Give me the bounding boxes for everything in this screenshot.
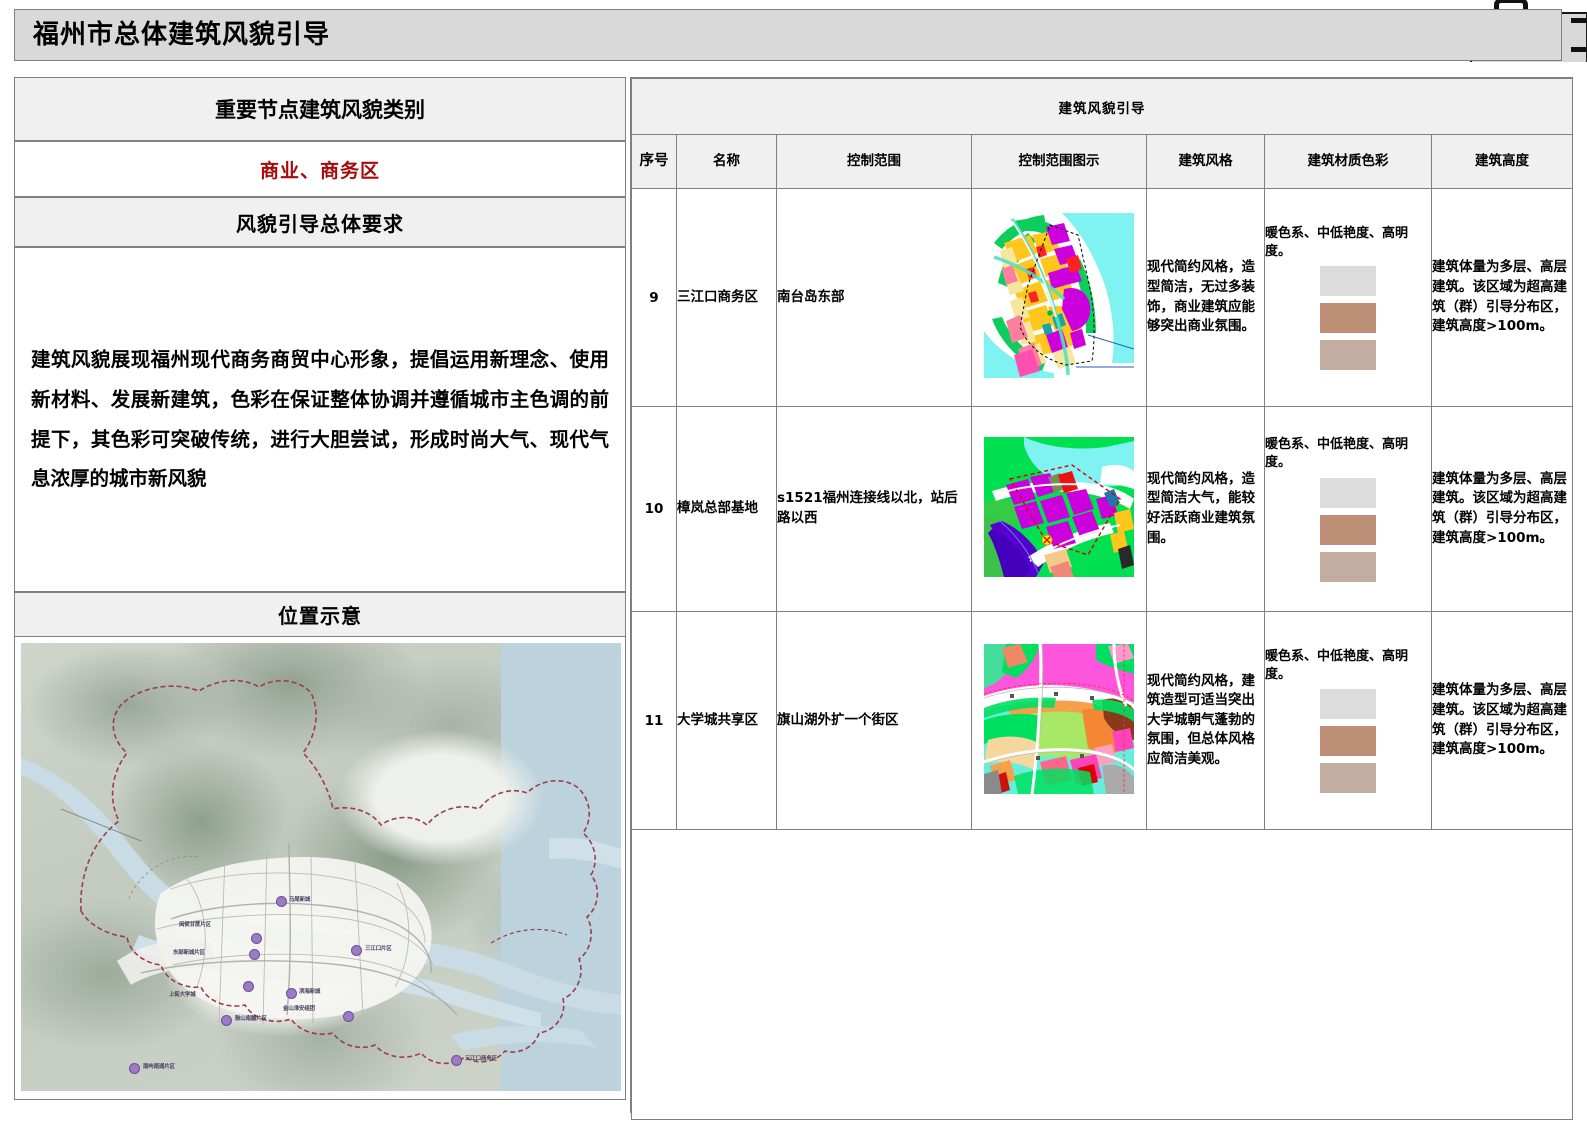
overall-requirement-header: 风貌引导总体要求 bbox=[14, 197, 626, 247]
guide-table: 建筑风貌引导 序号 名称 控制范围 控制范围图示 建筑风格 建筑材质色彩 建筑高… bbox=[631, 78, 1573, 1120]
map-node-label: 滨海新城 bbox=[299, 987, 320, 995]
map-node-label: 金山淮安组团 bbox=[283, 1004, 315, 1012]
column-header-height: 建筑高度 bbox=[1432, 135, 1573, 189]
material-swatch bbox=[1320, 340, 1376, 370]
category-label: 商业、商务区 bbox=[260, 156, 380, 183]
material-swatch bbox=[1320, 689, 1376, 719]
overall-requirement-text: 建筑风貌展现福州现代商务商贸中心形象，提倡运用新理念、使用新材料、发展新建筑，色… bbox=[31, 340, 609, 500]
material-swatch bbox=[1320, 303, 1376, 333]
material-swatch bbox=[1320, 266, 1376, 296]
left-section-title-text: 重要节点建筑风貌类别 bbox=[215, 94, 425, 124]
table-row: 10 樟岚总部基地 s1521福州连接线以北，站后路以西 bbox=[632, 407, 1573, 612]
material-swatch bbox=[1320, 763, 1376, 793]
material-swatch bbox=[1320, 515, 1376, 545]
page-title: 福州市总体建筑风貌引导 bbox=[15, 22, 330, 48]
table-empty-area bbox=[632, 830, 1573, 1120]
column-header-scope-map: 控制范围图示 bbox=[972, 135, 1147, 189]
row-style: 现代简约风格，建筑造型可适当突出大学城朝气蓬勃的氛围，但总体风格应简洁美观。 bbox=[1147, 612, 1265, 830]
location-header: 位置示意 bbox=[14, 592, 626, 637]
page-title-bar: 福州市总体建筑风貌引导 bbox=[14, 9, 1562, 61]
material-swatch bbox=[1320, 552, 1376, 582]
row-name: 樟岚总部基地 bbox=[677, 407, 777, 612]
map-node-label: 三江口商务区 bbox=[465, 1054, 497, 1062]
map-node-label: 东部新城片区 bbox=[173, 948, 205, 956]
row-name: 大学城共享区 bbox=[677, 612, 777, 830]
row-scope-map-cell bbox=[972, 407, 1147, 612]
material-swatch-group bbox=[1265, 478, 1431, 582]
row-material-note: 暖色系、中低艳度、高明度。 bbox=[1265, 436, 1431, 471]
location-map: 马尾新城 闽侯甘蔗片区 东部新城片区 三江口片区 上街大学城 滨海新城 金山淮安… bbox=[21, 643, 621, 1091]
row-material-note: 暖色系、中低艳度、高明度。 bbox=[1265, 225, 1431, 260]
column-header-material: 建筑材质色彩 bbox=[1265, 135, 1432, 189]
left-panel: 重要节点建筑风貌类别 商业、商务区 风貌引导总体要求 建筑风貌展现福州现代商务商… bbox=[14, 77, 626, 1113]
map-node-marker bbox=[249, 949, 260, 960]
row-material-cell: 暖色系、中低艳度、高明度。 bbox=[1265, 189, 1432, 407]
map-node-label: 马尾新城 bbox=[289, 895, 310, 903]
map-node-marker bbox=[221, 1015, 232, 1026]
row-scope: 旗山湖外扩一个街区 bbox=[777, 612, 972, 830]
category-cell: 商业、商务区 bbox=[14, 141, 626, 197]
guide-table-header-row: 序号 名称 控制范围 控制范围图示 建筑风格 建筑材质色彩 建筑高度 bbox=[632, 135, 1573, 189]
map-node-marker bbox=[276, 896, 287, 907]
guide-table-title-row: 建筑风貌引导 bbox=[632, 79, 1573, 135]
row-no: 10 bbox=[632, 407, 677, 612]
row-height: 建筑体量为多层、高层建筑。该区域为超高建筑（群）引导分布区，建筑高度>100m。 bbox=[1432, 189, 1573, 407]
map-node-marker bbox=[129, 1063, 140, 1074]
map-node-marker bbox=[286, 988, 297, 999]
row-material-cell: 暖色系、中低艳度、高明度。 bbox=[1265, 612, 1432, 830]
map-node-label: 鼓山南麓片区 bbox=[235, 1014, 267, 1022]
row-no: 9 bbox=[632, 189, 677, 407]
zoning-thumbnail-sanjiangkou bbox=[984, 213, 1134, 378]
zoning-thumbnail-zhanglan bbox=[984, 437, 1134, 577]
row-name: 三江口商务区 bbox=[677, 189, 777, 407]
overall-requirement-body: 建筑风貌展现福州现代商务商贸中心形象，提倡运用新理念、使用新材料、发展新建筑，色… bbox=[14, 247, 626, 592]
guide-table-container: 建筑风貌引导 序号 名称 控制范围 控制范围图示 建筑风格 建筑材质色彩 建筑高… bbox=[630, 77, 1573, 1113]
zoning-thumbnail-daxuecheng bbox=[984, 644, 1134, 794]
map-node-label: 闽侯甘蔗片区 bbox=[179, 920, 211, 928]
row-no: 11 bbox=[632, 612, 677, 830]
row-style: 现代简约风格，造型简洁，无过多装饰，商业建筑应能够突出商业氛围。 bbox=[1147, 189, 1265, 407]
material-swatch bbox=[1320, 478, 1376, 508]
left-section-title: 重要节点建筑风貌类别 bbox=[14, 77, 626, 141]
map-node-marker bbox=[243, 981, 254, 992]
map-node-label: 三江口片区 bbox=[365, 944, 392, 952]
column-header-name: 名称 bbox=[677, 135, 777, 189]
table-row: 11 大学城共享区 旗山湖外扩一个街区 bbox=[632, 612, 1573, 830]
row-scope-map-cell bbox=[972, 612, 1147, 830]
overall-requirement-title: 风貌引导总体要求 bbox=[236, 208, 404, 237]
map-node-label: 上街大学城 bbox=[169, 990, 196, 998]
row-height: 建筑体量为多层、高层建筑。该区域为超高建筑（群）引导分布区，建筑高度>100m。 bbox=[1432, 612, 1573, 830]
location-title: 位置示意 bbox=[278, 600, 362, 629]
map-node-marker bbox=[343, 1011, 354, 1022]
row-style: 现代简约风格，造型简洁大气，能较好活跃商业建筑氛围。 bbox=[1147, 407, 1265, 612]
map-node-marker bbox=[351, 945, 362, 956]
material-swatch-group bbox=[1265, 266, 1431, 370]
map-node-marker bbox=[451, 1055, 462, 1066]
map-node-label: 南屿南通片区 bbox=[143, 1062, 175, 1070]
material-swatch-group bbox=[1265, 689, 1431, 793]
column-header-style: 建筑风格 bbox=[1147, 135, 1265, 189]
table-empty-cell bbox=[632, 830, 1573, 1120]
slide-page: 福州市总体建筑风貌引导 重要节点建筑风貌类别 商业、商务区 风貌引导总体要求 建… bbox=[0, 0, 1587, 1122]
map-boundary-layer bbox=[21, 643, 621, 1091]
column-header-scope: 控制范围 bbox=[777, 135, 972, 189]
row-height: 建筑体量为多层、高层建筑。该区域为超高建筑（群）引导分布区，建筑高度>100m。 bbox=[1432, 407, 1573, 612]
row-material-note: 暖色系、中低艳度、高明度。 bbox=[1265, 648, 1431, 683]
table-row: 9 三江口商务区 南台岛东部 bbox=[632, 189, 1573, 407]
row-scope: s1521福州连接线以北，站后路以西 bbox=[777, 407, 972, 612]
column-header-no: 序号 bbox=[632, 135, 677, 189]
material-swatch bbox=[1320, 726, 1376, 756]
location-map-cell: 马尾新城 闽侯甘蔗片区 东部新城片区 三江口片区 上街大学城 滨海新城 金山淮安… bbox=[14, 637, 626, 1100]
map-node-marker bbox=[251, 933, 262, 944]
row-material-cell: 暖色系、中低艳度、高明度。 bbox=[1265, 407, 1432, 612]
row-scope: 南台岛东部 bbox=[777, 189, 972, 407]
row-scope-map-cell bbox=[972, 189, 1147, 407]
guide-table-title: 建筑风貌引导 bbox=[632, 79, 1573, 135]
